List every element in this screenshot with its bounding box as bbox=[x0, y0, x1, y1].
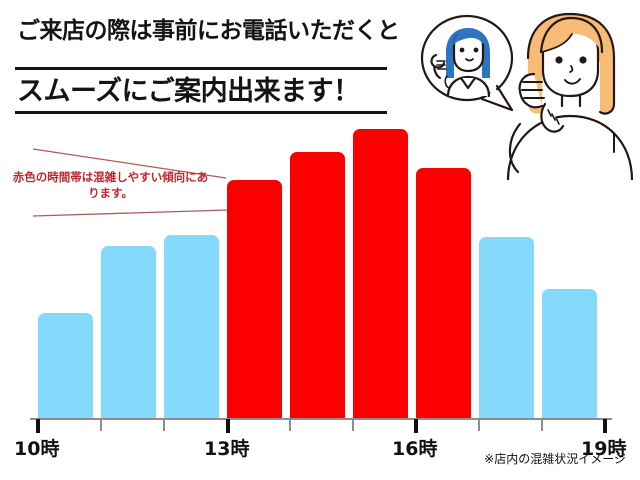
axis-tick-12 bbox=[163, 419, 165, 431]
axis-tick-15 bbox=[352, 419, 354, 431]
axis-tick-19 bbox=[603, 419, 607, 433]
axis-tick-11 bbox=[100, 419, 102, 431]
axis-tick-17 bbox=[478, 419, 480, 431]
customer-figure bbox=[508, 14, 632, 180]
axis-tick-14 bbox=[289, 419, 291, 431]
bar-18 bbox=[542, 289, 597, 418]
bar-13 bbox=[227, 180, 282, 418]
axis-label-13: 13時 bbox=[204, 434, 249, 461]
congestion-chart-banner: ご来店の際は事前にお電話いただくと スムーズにご案内出来ます！ 赤色の時間帯は混… bbox=[0, 0, 640, 480]
bar-14 bbox=[290, 152, 345, 418]
x-axis-line bbox=[30, 418, 612, 420]
axis-tick-16 bbox=[414, 419, 418, 433]
bar-12 bbox=[164, 235, 219, 418]
axis-tick-10 bbox=[36, 419, 40, 433]
bar-16 bbox=[416, 168, 471, 418]
axis-label-10: 10時 bbox=[14, 434, 59, 461]
bar-11 bbox=[101, 246, 156, 418]
footnote-text: ※店内の混雑状況イメージ bbox=[484, 450, 626, 467]
bar-10 bbox=[38, 313, 93, 418]
phone-call-illustration bbox=[400, 0, 640, 180]
axis-tick-18 bbox=[541, 419, 543, 431]
bar-17 bbox=[479, 237, 534, 418]
axis-tick-13 bbox=[226, 419, 230, 433]
axis-label-16: 16時 bbox=[392, 434, 437, 461]
